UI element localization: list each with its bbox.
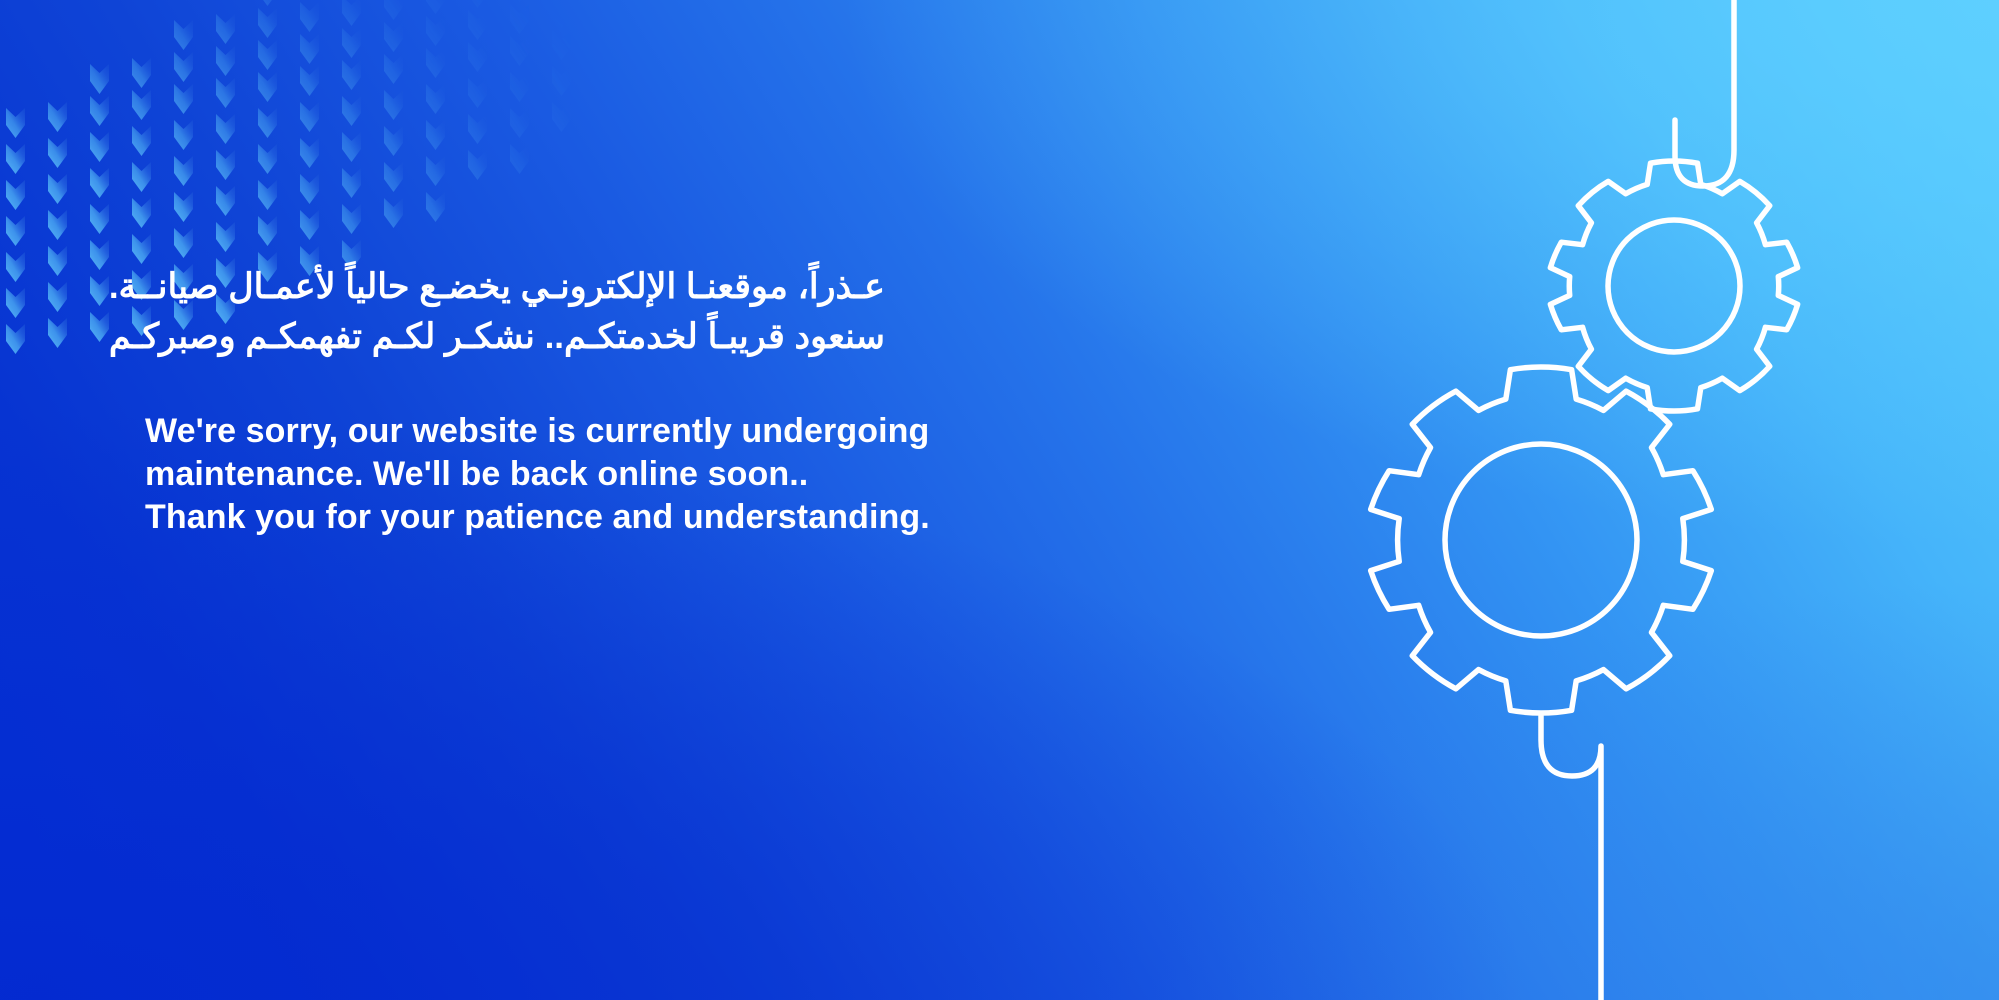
bottom-connector-line (1541, 716, 1601, 1000)
english-message-line-2: maintenance. We'll be back online soon.. (145, 453, 1045, 496)
english-message-line-1: We're sorry, our website is currently un… (145, 410, 1045, 453)
gear-illustration (1179, 0, 1999, 1000)
small-gear-inner-circle (1608, 220, 1740, 352)
small-gear-body (1550, 161, 1797, 411)
arabic-message-line-1: عـذراً، موقعنـا الإلكترونـي يخضـع حالياً… (145, 262, 885, 312)
arabic-message: عـذراً، موقعنـا الإلكترونـي يخضـع حالياً… (145, 262, 885, 362)
arabic-message-line-2: سنعود قريبـاً لخدمتكـم.. نشكـر لكـم تفهم… (145, 312, 885, 362)
english-message-line-3: Thank you for your patience and understa… (145, 496, 1045, 539)
maintenance-message-block: عـذراً، موقعنـا الإلكترونـي يخضـع حالياً… (145, 262, 1045, 539)
maintenance-page: عـذراً، موقعنـا الإلكترونـي يخضـع حالياً… (0, 0, 1999, 1000)
english-message: We're sorry, our website is currently un… (145, 410, 1045, 539)
large-gear-body (1371, 367, 1712, 713)
large-gear-inner-circle (1445, 444, 1637, 636)
top-connector-line (1675, 0, 1734, 186)
